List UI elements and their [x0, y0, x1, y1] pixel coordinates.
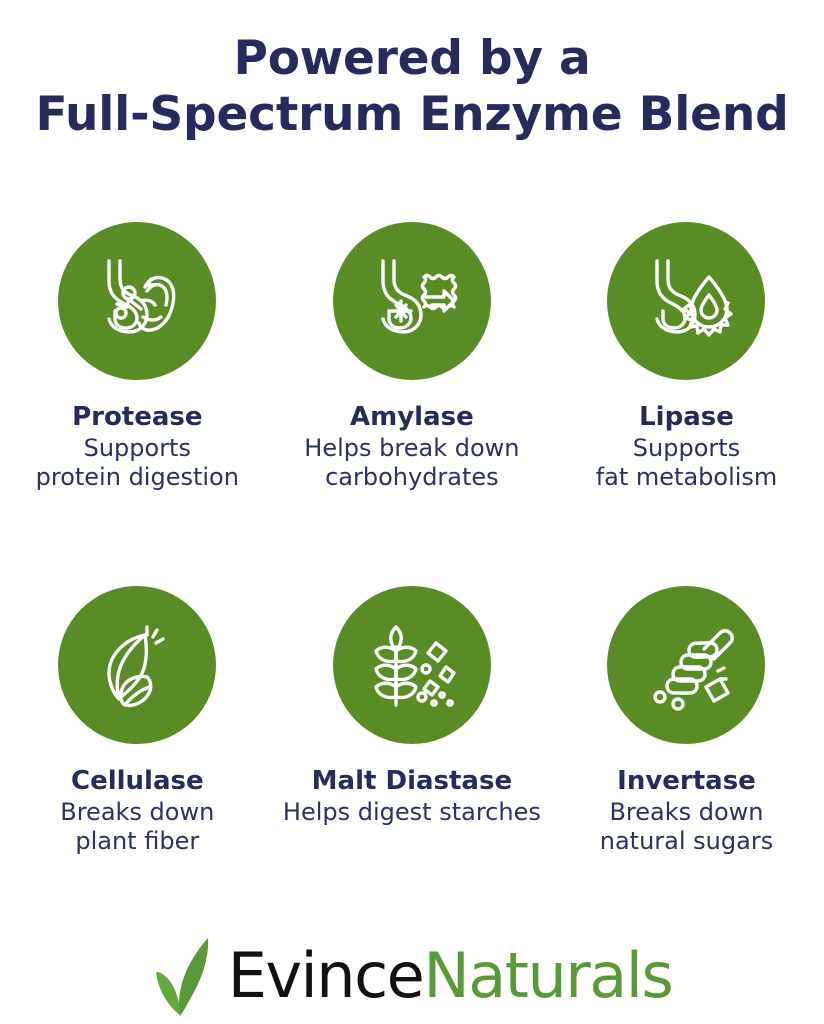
page-title: Powered by a Full-Spectrum Enzyme Blend [0, 31, 824, 143]
enzyme-card-malt-diastase: Malt Diastase Helps digest starches [275, 586, 550, 855]
icon-circle-cellulase [58, 586, 216, 744]
enzyme-description: Breaks down natural sugars [600, 798, 773, 855]
enzyme-row-2: Cellulase Breaks down plant fiber [0, 586, 824, 855]
enzyme-description: Helps break down carbohydrates [304, 434, 519, 491]
enzyme-description-line-1: Helps break down [304, 434, 519, 462]
enzyme-description-line-1: Supports [633, 434, 740, 462]
wheat-grains-icon [360, 613, 464, 717]
enzyme-description-line-2: plant fiber [75, 827, 199, 855]
honey-dipper-sugar-icon [634, 613, 738, 717]
enzyme-description-line-1: Breaks down [60, 798, 214, 826]
enzyme-description: Supports protein digestion [36, 434, 239, 491]
enzyme-description: Supports fat metabolism [596, 434, 778, 491]
enzyme-card-cellulase: Cellulase Breaks down plant fiber [0, 586, 275, 855]
enzyme-description-line-1: Supports [84, 434, 191, 462]
enzyme-description-line-2: carbohydrates [325, 463, 499, 491]
enzyme-name: Cellulase [71, 766, 204, 796]
logo-text: EvinceNaturals [228, 943, 673, 1009]
enzyme-description-line-2: natural sugars [600, 827, 773, 855]
icon-circle-malt-diastase [333, 586, 491, 744]
page-title-line-2: Full-Spectrum Enzyme Blend [0, 87, 824, 143]
infographic-page: Powered by a Full-Spectrum Enzyme Blend [0, 0, 824, 1024]
enzyme-name: Lipase [639, 402, 734, 432]
enzyme-row-1: Protease Supports protein digestion [0, 222, 824, 491]
enzyme-grid: Protease Supports protein digestion [0, 222, 824, 855]
enzyme-name: Protease [72, 402, 202, 432]
enzyme-description-line-2: protein digestion [36, 463, 239, 491]
enzyme-card-amylase: Amylase Helps break down carbohydrates [275, 222, 550, 491]
enzyme-card-lipase: Lipase Supports fat metabolism [549, 222, 824, 491]
icon-circle-amylase [333, 222, 491, 380]
enzyme-description: Helps digest starches [283, 798, 541, 827]
leaves-sparkle-icon [85, 613, 189, 717]
icon-circle-invertase [607, 586, 765, 744]
enzyme-description: Breaks down plant fiber [60, 798, 214, 855]
stomach-muscle-icon [85, 249, 189, 353]
brand-logo: EvinceNaturals [0, 934, 824, 1018]
enzyme-card-protease: Protease Supports protein digestion [0, 222, 275, 491]
logo-text-primary: Evince [228, 939, 424, 1012]
enzyme-name: Amylase [350, 402, 474, 432]
icon-circle-lipase [607, 222, 765, 380]
enzyme-description-line-1: Helps digest starches [283, 798, 541, 826]
stomach-arrow-icon [360, 249, 464, 353]
two-leaves-icon [152, 934, 226, 1018]
enzyme-card-invertase: Invertase Breaks down natural sugars [549, 586, 824, 855]
stomach-fat-droplet-icon [634, 249, 738, 353]
enzyme-name: Invertase [617, 766, 756, 796]
icon-circle-protease [58, 222, 216, 380]
page-title-line-1: Powered by a [0, 31, 824, 87]
logo-text-secondary: Naturals [423, 939, 672, 1012]
enzyme-name: Malt Diastase [312, 766, 512, 796]
enzyme-description-line-1: Breaks down [609, 798, 763, 826]
enzyme-description-line-2: fat metabolism [596, 463, 778, 491]
